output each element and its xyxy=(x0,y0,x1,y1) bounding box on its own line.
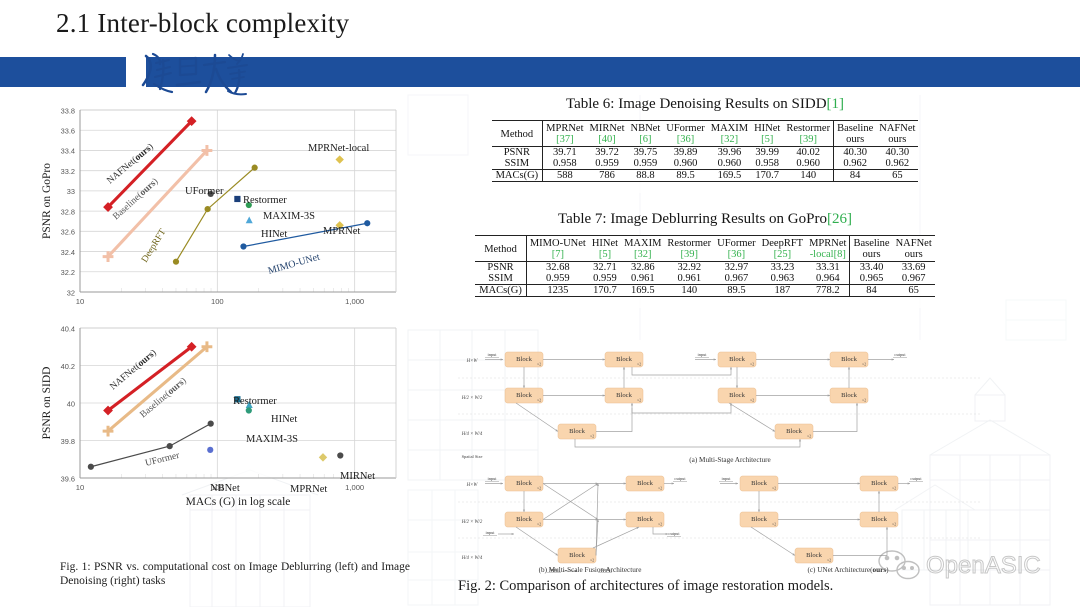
architecture-block-count: ×2 xyxy=(807,434,811,438)
table-cell: 39.89 xyxy=(663,147,708,159)
y-axis-tick-label: 32.8 xyxy=(61,207,75,216)
table-cell: 0.959 xyxy=(526,273,589,285)
table-column-header: Baseline xyxy=(850,236,893,250)
table-column-header: NBNet xyxy=(628,121,664,135)
table-column-ours-label: ours xyxy=(893,249,935,262)
table-cell: 33.31 xyxy=(806,262,850,274)
architecture-block-label: Block xyxy=(871,516,887,523)
y-axis-tick-label: 33.4 xyxy=(61,147,75,156)
table-6-title-citation: [1] xyxy=(827,96,845,112)
architecture-arrowhead xyxy=(624,482,626,484)
table-7: MethodMIMO-UNetHINetMAXIMRestormerUForme… xyxy=(475,235,935,308)
table-6-title: Table 6: Image Denoising Results on SIDD… xyxy=(424,96,986,113)
table-row-label: SSIM xyxy=(475,273,526,285)
architecture-arrowhead xyxy=(623,367,625,369)
table-column-citation: [39] xyxy=(783,134,833,147)
y-axis-tick-label: 40.2 xyxy=(61,362,75,371)
table-column-header: Restormer xyxy=(664,236,714,250)
series-label: MAXIM-3S xyxy=(246,434,298,445)
table-row-label: PSNR xyxy=(492,147,543,159)
table-column-citation: [5] xyxy=(751,134,783,147)
architecture-block-label: Block xyxy=(841,356,857,363)
architecture-block: Block×2 xyxy=(718,352,756,367)
table-cell: 140 xyxy=(664,285,714,297)
chart-psnr-gopro: 3232.232.432.632.83333.233.433.633.81010… xyxy=(18,96,418,318)
architecture-block-count: ×2 xyxy=(658,486,662,490)
architecture-arrowhead xyxy=(523,386,525,388)
architecture-block-count: ×2 xyxy=(537,362,541,366)
architecture-scale-label: H/4 × W/4 xyxy=(461,432,483,437)
table-cell: 65 xyxy=(876,170,918,182)
architecture-block-count: ×2 xyxy=(892,486,896,490)
architecture-block-count: ×2 xyxy=(590,434,594,438)
x-axis-title: MACs (G) in log scale xyxy=(186,496,291,508)
table-cell: 88.8 xyxy=(628,170,664,182)
table-row: MACs(G)58878688.889.5169.5170.71408465 xyxy=(492,170,919,182)
svg-text:Restormer: Restormer xyxy=(243,195,287,206)
series-label: NBNet xyxy=(210,483,240,494)
table-cell: 0.958 xyxy=(543,158,587,170)
architecture-block-count: ×2 xyxy=(862,362,866,366)
table-row: SSIM0.9590.9590.9610.9610.9670.9630.9640… xyxy=(475,273,935,285)
table-7-wrapper: Table 7: Image Deblurring Results on GoP… xyxy=(424,211,986,308)
architecture-block: Block×2 xyxy=(795,548,833,563)
table-cell: 65 xyxy=(893,285,935,297)
architecture-block-count: ×2 xyxy=(862,398,866,402)
table-cell: 0.960 xyxy=(663,158,708,170)
architecture-input-label: input xyxy=(487,476,497,481)
table-cell: 0.967 xyxy=(714,273,759,285)
x-axis-tick-label: 1,000 xyxy=(345,297,364,306)
chart-psnr-sidd: 39.639.84040.240.4101001,000PSNR on SIDD… xyxy=(18,318,418,526)
architecture-scale-label: H/2 × W/2 xyxy=(461,520,483,525)
architecture-scale-label: H×W xyxy=(466,483,479,488)
y-axis-title: PSNR on GoPro xyxy=(41,163,53,239)
architecture-block: Block×2 xyxy=(505,476,543,491)
y-axis-tick-label: 33 xyxy=(67,187,75,196)
architecture-output-label: output xyxy=(894,352,906,357)
architecture-input-label: input xyxy=(485,530,495,535)
architecture-block: Block×2 xyxy=(626,476,664,491)
table-cell: 170.7 xyxy=(589,285,621,297)
series-label: MPRNet xyxy=(290,484,327,495)
table-cell: 0.962 xyxy=(876,158,918,170)
x-axis-tick-label: 1,000 xyxy=(345,483,364,492)
architecture-connector xyxy=(813,403,857,432)
table-column-ours-label: ours xyxy=(850,249,893,262)
table-row-label: PSNR xyxy=(475,262,526,274)
architecture-block: Block×2 xyxy=(740,476,778,491)
architecture-scale-label: H/4 × W/4 xyxy=(461,556,483,561)
table-cell: 33.40 xyxy=(850,262,893,274)
series-label: Restormer xyxy=(233,396,277,407)
architecture-block-count: ×2 xyxy=(750,362,754,366)
architecture-block-label: Block xyxy=(729,392,745,399)
architecture-block: Block×2 xyxy=(718,388,756,403)
table-6: MethodMPRNetMIRNetNBNetUFormerMAXIMHINet… xyxy=(492,120,919,193)
table-column-header: MAXIM xyxy=(621,236,664,250)
table-cell: 89.5 xyxy=(663,170,708,182)
architecture-subcaption: (b) Multi-Scale Fusion Architecture xyxy=(539,566,642,574)
architecture-block: Block×2 xyxy=(505,352,543,367)
architecture-input-label: input xyxy=(487,352,497,357)
series-label: HINet xyxy=(261,229,287,240)
architecture-connector xyxy=(593,527,639,548)
table-cell: 89.5 xyxy=(714,285,759,297)
figure-1-charts: 3232.232.432.632.83333.233.433.633.81010… xyxy=(18,96,418,551)
table-cell: 39.96 xyxy=(708,147,751,159)
architecture-block-label: Block xyxy=(616,356,632,363)
figure-1-caption-line-1: Fig. 1: PSNR vs. computational cost on I… xyxy=(60,561,278,573)
table-column-header: HINet xyxy=(751,121,783,135)
table-column-citation: [40] xyxy=(587,134,628,147)
table-cell: 84 xyxy=(850,285,893,297)
architecture-block: Block×2 xyxy=(558,424,596,439)
table-row: MACs(G)1235170.7169.514089.5187778.28465 xyxy=(475,285,935,297)
architecture-block: Block×2 xyxy=(740,512,778,527)
architecture-arrowhead xyxy=(714,358,716,360)
figure-2-architectures: H×WH/2 × W/2H/4 × W/4Spatial SizeBlock×2… xyxy=(430,336,990,580)
table-cell: 187 xyxy=(759,285,806,297)
architecture-block-count: ×2 xyxy=(892,522,896,526)
svg-text:NBNet: NBNet xyxy=(210,483,240,494)
table-cell: 39.99 xyxy=(751,147,783,159)
svg-text:MIRNet: MIRNet xyxy=(340,471,375,482)
openasic-watermark: OpenASIC xyxy=(872,545,1072,585)
table-column-header: MPRNet xyxy=(806,236,850,250)
architecture-spatial-size-label: Spatial Size xyxy=(462,454,483,459)
header-bar-left xyxy=(0,57,126,87)
table-cell: 0.959 xyxy=(589,273,621,285)
table-column-header: HINet xyxy=(589,236,621,250)
table-cell: 0.959 xyxy=(628,158,664,170)
table-bottom-rule xyxy=(492,182,919,194)
table-cell: 32.97 xyxy=(714,262,759,274)
architecture-arrowhead xyxy=(828,358,830,360)
architecture-block-label: Block xyxy=(616,392,632,399)
svg-text:MPRNet: MPRNet xyxy=(290,484,327,495)
architecture-block-label: Block xyxy=(871,480,887,487)
architecture-output-label: output xyxy=(674,476,686,481)
svg-text:MPRNet-local: MPRNet-local xyxy=(308,143,369,154)
architecture-block-count: ×2 xyxy=(590,558,594,562)
y-axis-tick-label: 33.2 xyxy=(61,167,75,176)
architecture-block: Block×2 xyxy=(626,512,664,527)
architecture-connector xyxy=(516,403,558,432)
architecture-block-label: Block xyxy=(841,392,857,399)
architecture-arrowhead xyxy=(858,482,860,484)
table-column-header: NAFNet xyxy=(893,236,935,250)
svg-text:MAXIM-3S: MAXIM-3S xyxy=(263,211,315,222)
table-cell: 32.68 xyxy=(526,262,589,274)
slide-canvas: 2.1 Inter-block complexity xyxy=(0,0,1080,607)
y-axis-tick-label: 33.6 xyxy=(61,127,75,136)
table-column-citation: [7] xyxy=(526,249,589,262)
architecture-arrowhead xyxy=(501,482,503,484)
svg-text:HINet: HINet xyxy=(261,229,287,240)
table-cell: 0.959 xyxy=(587,158,628,170)
results-tables: Table 6: Image Denoising Results on SIDD… xyxy=(424,96,986,308)
series-label: MIRNet xyxy=(340,471,375,482)
y-axis-tick-label: 40 xyxy=(67,399,75,408)
page-title: 2.1 Inter-block complexity xyxy=(56,8,349,39)
architecture-block-label: Block xyxy=(751,516,767,523)
table-cell: 169.5 xyxy=(708,170,751,182)
table-column-header: MPRNet xyxy=(543,121,587,135)
architecture-connector xyxy=(751,527,795,556)
architecture-block-count: ×2 xyxy=(637,398,641,402)
table-cell: 169.5 xyxy=(621,285,664,297)
architecture-block: Block×2 xyxy=(605,352,643,367)
table-7-title: Table 7: Image Deblurring Results on GoP… xyxy=(424,211,986,228)
svg-text:UFormer: UFormer xyxy=(185,186,224,197)
architecture-block-count: ×2 xyxy=(827,558,831,562)
architecture-block-count: ×2 xyxy=(750,398,754,402)
table-column-citation: [6] xyxy=(628,134,664,147)
table-cell: 40.02 xyxy=(783,147,833,159)
table-cell: 0.964 xyxy=(806,273,850,285)
table-cell: 39.72 xyxy=(587,147,628,159)
table-column-header: Restormer xyxy=(783,121,833,135)
table-cell: 0.961 xyxy=(621,273,664,285)
architecture-arrowhead xyxy=(878,491,880,493)
y-axis-tick-label: 39.8 xyxy=(61,437,75,446)
architecture-block: Block×2 xyxy=(558,548,596,563)
y-axis-tick-label: 32.4 xyxy=(61,248,75,257)
y-axis-title: PSNR on SIDD xyxy=(41,367,53,440)
table-column-citation: [36] xyxy=(663,134,708,147)
table-method-header: Method xyxy=(492,121,543,147)
architecture-block-label: Block xyxy=(786,428,802,435)
series-label: Restormer xyxy=(243,195,287,206)
table-column-header: Baseline xyxy=(834,121,877,135)
table-cell: 0.960 xyxy=(708,158,751,170)
table-cell: 0.960 xyxy=(783,158,833,170)
table-cell: 0.965 xyxy=(850,273,893,285)
architecture-block-label: Block xyxy=(637,480,653,487)
architecture-connector xyxy=(729,403,775,432)
table-cell: 84 xyxy=(834,170,877,182)
architecture-block-count: ×2 xyxy=(537,486,541,490)
table-cell: 1235 xyxy=(526,285,589,297)
series-label: MPRNet-local xyxy=(308,143,369,154)
architecture-block-label: Block xyxy=(516,480,532,487)
architecture-output-label: output xyxy=(668,531,680,536)
architecture-arrowhead xyxy=(624,518,626,520)
table-row: PSNR32.6832.7132.8632.9232.9733.2333.313… xyxy=(475,262,935,274)
table-cell: 40.30 xyxy=(834,147,877,159)
x-axis-tick-label: 10 xyxy=(76,297,84,306)
architecture-block-label: Block xyxy=(751,480,767,487)
architecture-scale-label: H/2 × W/2 xyxy=(461,396,483,401)
table-column-citation: [36] xyxy=(714,249,759,262)
table-bottom-rule xyxy=(475,297,935,309)
architecture-arrowhead xyxy=(501,358,503,360)
architecture-arrowhead xyxy=(848,367,850,369)
architecture-block: Block×2 xyxy=(860,476,898,491)
architecture-arrowhead xyxy=(603,394,605,396)
table-column-header: NAFNet xyxy=(876,121,918,135)
architecture-arrowhead xyxy=(908,482,910,484)
table-cell: 0.961 xyxy=(664,273,714,285)
table-cell: 140 xyxy=(783,170,833,182)
architecture-block-label: Block xyxy=(729,356,745,363)
table-column-header: MIRNet xyxy=(587,121,628,135)
table-row-label: MACs(G) xyxy=(492,170,543,182)
table-cell: 588 xyxy=(543,170,587,182)
svg-text:MPRNet: MPRNet xyxy=(323,226,360,237)
table-cell: 0.967 xyxy=(893,273,935,285)
architecture-arrowhead xyxy=(858,518,860,520)
architecture-arrowhead xyxy=(512,533,514,535)
y-axis-tick-label: 33.8 xyxy=(61,106,75,115)
table-7-title-text: Table 7: Image Deblurring Results on GoP… xyxy=(558,211,827,227)
architecture-block-count: ×2 xyxy=(537,522,541,526)
architecture-arrowhead xyxy=(603,358,605,360)
table-row: SSIM0.9580.9590.9590.9600.9600.9580.9600… xyxy=(492,158,919,170)
y-axis-tick-label: 32 xyxy=(67,288,75,297)
table-6-title-text: Table 6: Image Denoising Results on SIDD xyxy=(566,96,827,112)
architecture-arrowhead xyxy=(736,386,738,388)
table-column-citation: [37] xyxy=(543,134,587,147)
series-label: MAXIM-3S xyxy=(263,211,315,222)
table-column-citation: [32] xyxy=(621,249,664,262)
architecture-input-label: input xyxy=(697,352,707,357)
figure-1-caption: Fig. 1: PSNR vs. computational cost on I… xyxy=(60,560,410,588)
table-cell: 39.75 xyxy=(628,147,664,159)
table-cell: 170.7 xyxy=(751,170,783,182)
architecture-block-label: Block xyxy=(516,356,532,363)
table-row-label: SSIM xyxy=(492,158,543,170)
architecture-block-count: ×2 xyxy=(658,522,662,526)
table-cell: 32.86 xyxy=(621,262,664,274)
table-method-header: Method xyxy=(475,236,526,262)
architecture-block-label: Block xyxy=(516,516,532,523)
table-column-header: UFormer xyxy=(663,121,708,135)
architecture-block: Block×2 xyxy=(505,388,543,403)
table-column-header: MAXIM xyxy=(708,121,751,135)
y-axis-tick-label: 40.4 xyxy=(61,324,75,333)
table-cell: 786 xyxy=(587,170,628,182)
architecture-block-count: ×2 xyxy=(537,398,541,402)
architecture-block-count: ×2 xyxy=(637,362,641,366)
architecture-block: Block×2 xyxy=(860,512,898,527)
architecture-block: Block×2 xyxy=(830,388,868,403)
table-cell: 0.962 xyxy=(834,158,877,170)
table-column-header: UFormer xyxy=(714,236,759,250)
x-axis-tick-label: 10 xyxy=(76,483,84,492)
table-column-header: MIMO-UNet xyxy=(526,236,589,250)
table-column-ours-label: ours xyxy=(834,134,877,147)
table-column-citation: [32] xyxy=(708,134,751,147)
openasic-watermark-text: OpenASIC xyxy=(926,552,1041,579)
architecture-block-label: Block xyxy=(806,552,822,559)
architecture-arrowhead xyxy=(828,394,830,396)
architecture-block: Block×2 xyxy=(775,424,813,439)
architecture-block-count: ×2 xyxy=(772,486,776,490)
table-row-label: MACs(G) xyxy=(475,285,526,297)
fudan-university-logo-icon xyxy=(140,48,250,100)
architecture-block-label: Block xyxy=(569,428,585,435)
svg-text:Restormer: Restormer xyxy=(233,396,277,407)
table-cell: 33.69 xyxy=(893,262,935,274)
table-7-title-citation: [26] xyxy=(827,211,852,227)
table-column-citation: [5] xyxy=(589,249,621,262)
table-cell: 0.963 xyxy=(759,273,806,285)
series-label: UFormer xyxy=(185,186,224,197)
header-bar-right xyxy=(146,57,1080,87)
table-column-header: DeepRFT xyxy=(759,236,806,250)
architecture-connector xyxy=(596,403,632,432)
architecture-arrowhead xyxy=(758,510,760,512)
table-cell: 32.92 xyxy=(664,262,714,274)
table-column-citation: [39] xyxy=(664,249,714,262)
table-cell: 40.30 xyxy=(876,147,918,159)
architecture-arrowhead xyxy=(892,358,894,360)
architecture-block-label: Block xyxy=(516,392,532,399)
architecture-connector xyxy=(632,403,731,413)
architecture-block-count: ×2 xyxy=(772,522,776,526)
architecture-subcaption: (a) Multi-Stage Architecture xyxy=(689,456,770,464)
architecture-arrowhead xyxy=(672,482,674,484)
table-cell: 39.71 xyxy=(543,147,587,159)
table-column-citation: [25] xyxy=(759,249,806,262)
y-axis-tick-label: 32.6 xyxy=(61,228,75,237)
table-6-wrapper: Table 6: Image Denoising Results on SIDD… xyxy=(424,96,986,193)
table-cell: 32.71 xyxy=(589,262,621,274)
x-axis-tick-label: 100 xyxy=(211,297,224,306)
architecture-connector xyxy=(575,439,800,447)
y-axis-tick-label: 39.6 xyxy=(61,474,75,483)
architecture-block: Block×2 xyxy=(505,512,543,527)
architecture-connector xyxy=(516,527,558,556)
table-column-citation: -local[8] xyxy=(806,249,850,262)
architecture-output-label: output xyxy=(910,476,922,481)
table-column-ours-label: ours xyxy=(876,134,918,147)
architecture-block-label: Block xyxy=(569,552,585,559)
series-label: HINet xyxy=(271,414,297,425)
table-cell: 0.958 xyxy=(751,158,783,170)
series-label: MPRNet xyxy=(323,226,360,237)
architecture-block-label: Block xyxy=(637,516,653,523)
architecture-arrowhead xyxy=(736,482,738,484)
svg-text:MAXIM-3S: MAXIM-3S xyxy=(246,434,298,445)
architecture-input-label: input xyxy=(721,476,731,481)
table-row: PSNR39.7139.7239.7539.8939.9639.9940.024… xyxy=(492,147,919,159)
svg-text:HINet: HINet xyxy=(271,414,297,425)
architecture-arrowhead xyxy=(523,510,525,512)
architecture-block: Block×2 xyxy=(605,388,643,403)
architecture-scale-label: H×W xyxy=(466,359,479,364)
architecture-block: Block×2 xyxy=(830,352,868,367)
architecture-connector xyxy=(632,367,731,375)
table-cell: 33.23 xyxy=(759,262,806,274)
table-cell: 778.2 xyxy=(806,285,850,297)
y-axis-tick-label: 32.2 xyxy=(61,268,75,277)
